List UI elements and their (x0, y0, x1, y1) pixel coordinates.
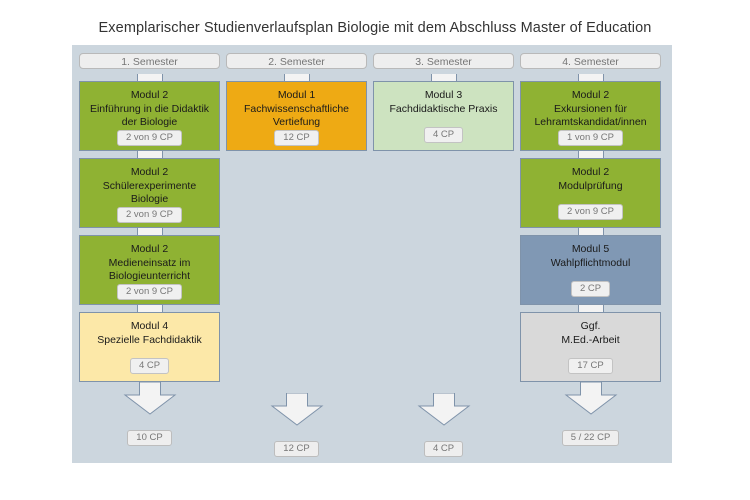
connector-stub (431, 74, 457, 81)
module-line: Modul 2 (525, 166, 656, 180)
cp-badge: 2 von 9 CP (117, 130, 182, 146)
module-line: Biologie (84, 193, 215, 207)
module-box-modul-2-schuelerexperimente[interactable]: Modul 2 Schülerexperimente Biologie 2 vo… (79, 158, 220, 228)
down-arrow-icon (417, 393, 471, 427)
module-line: der Biologie (84, 116, 215, 130)
flow-arrow-area-2 (226, 393, 367, 441)
module-title: Modul 4 Spezielle Fachdidaktik (84, 320, 215, 347)
column-spacer (373, 151, 514, 393)
connector-stub (137, 228, 163, 235)
cp-badge-wrap: 2 von 9 CP (84, 130, 215, 147)
cp-badge: 2 von 9 CP (117, 207, 182, 223)
module-title: Modul 2 Exkursionen für Lehramtskandidat… (525, 89, 656, 130)
semester-columns: 1. Semester Modul 2 Einführung in die Di… (72, 45, 672, 463)
module-title: Modul 2 Schülerexperimente Biologie (84, 166, 215, 207)
semester-total-4: 5 / 22 CP (562, 430, 620, 446)
semester-total-wrap-1: 10 CP (79, 430, 220, 452)
semester-total-3: 4 CP (424, 441, 463, 457)
semester-column-4: 4. Semester Modul 2 Exkursionen für Lehr… (520, 53, 661, 463)
cp-badge: 1 von 9 CP (558, 130, 623, 146)
semester-header-3[interactable]: 3. Semester (373, 53, 514, 69)
connector-stub (284, 74, 310, 81)
column-spacer (226, 151, 367, 393)
cp-badge: 2 von 9 CP (558, 204, 623, 220)
plan-panel: 1. Semester Modul 2 Einführung in die Di… (72, 45, 672, 463)
semester-column-3: 3. Semester Modul 3 Fachdidaktische Prax… (373, 53, 514, 463)
cp-badge-wrap: 2 von 9 CP (84, 284, 215, 301)
study-plan-page: Exemplarischer Studienverlaufsplan Biolo… (0, 0, 750, 500)
module-box-modul-3-fachdidaktische-praxis[interactable]: Modul 3 Fachdidaktische Praxis 4 CP (373, 81, 514, 151)
module-box-ggf-med-arbeit[interactable]: Ggf. M.Ed.-Arbeit 17 CP (520, 312, 661, 382)
module-line: Modul 2 (84, 89, 215, 103)
module-line: Exkursionen für (525, 103, 656, 117)
module-box-modul-2-modulpruefung[interactable]: Modul 2 Modulprüfung 2 von 9 CP (520, 158, 661, 228)
connector-stub (137, 151, 163, 158)
module-box-modul-1-fachwissenschaftliche-vertiefung[interactable]: Modul 1 Fachwissenschaftliche Vertiefung… (226, 81, 367, 151)
module-box-modul-2-exkursionen[interactable]: Modul 2 Exkursionen für Lehramtskandidat… (520, 81, 661, 151)
cp-badge: 4 CP (424, 127, 463, 143)
module-line: Modul 5 (525, 243, 656, 257)
cp-badge: 17 CP (568, 358, 612, 374)
semester-total-2: 12 CP (274, 441, 318, 457)
module-title: Modul 2 Einführung in die Didaktik der B… (84, 89, 215, 130)
cp-badge-wrap: 12 CP (231, 130, 362, 147)
connector-stub (578, 305, 604, 312)
module-line: Modul 4 (84, 320, 215, 334)
module-title: Modul 2 Medieneinsatz im Biologieunterri… (84, 243, 215, 284)
module-title: Modul 3 Fachdidaktische Praxis (378, 89, 509, 116)
cp-badge-wrap: 2 CP (525, 281, 656, 298)
cp-badge-wrap: 17 CP (525, 358, 656, 375)
module-box-modul-4-spezielle-fachdidaktik[interactable]: Modul 4 Spezielle Fachdidaktik 4 CP (79, 312, 220, 382)
module-line: Medieneinsatz im (84, 257, 215, 271)
connector-stub (578, 151, 604, 158)
module-line: Ggf. (525, 320, 656, 334)
semester-header-2[interactable]: 2. Semester (226, 53, 367, 69)
module-title: Modul 2 Modulprüfung (525, 166, 656, 193)
semester-column-1: 1. Semester Modul 2 Einführung in die Di… (79, 53, 220, 463)
module-line: Biologieunterricht (84, 270, 215, 284)
module-box-modul-2-einfuehrung-didaktik[interactable]: Modul 2 Einführung in die Didaktik der B… (79, 81, 220, 151)
module-line: Wahlpflichtmodul (525, 257, 656, 271)
flow-arrow-area-3 (373, 393, 514, 441)
module-line: Fachdidaktische Praxis (378, 103, 509, 117)
flow-arrow-area-1 (79, 382, 220, 430)
cp-badge-wrap: 4 CP (378, 127, 509, 144)
module-title: Modul 5 Wahlpflichtmodul (525, 243, 656, 270)
down-arrow-icon (270, 393, 324, 427)
cp-badge: 2 CP (571, 281, 610, 297)
connector-stub (137, 305, 163, 312)
semester-total-wrap-2: 12 CP (226, 441, 367, 463)
connector-stub (578, 74, 604, 81)
module-box-modul-5-wahlpflichtmodul[interactable]: Modul 5 Wahlpflichtmodul 2 CP (520, 235, 661, 305)
module-line: Lehramtskandidat/innen (525, 116, 656, 130)
semester-header-4[interactable]: 4. Semester (520, 53, 661, 69)
cp-badge-wrap: 4 CP (84, 358, 215, 375)
semester-header-1[interactable]: 1. Semester (79, 53, 220, 69)
module-line: Spezielle Fachdidaktik (84, 334, 215, 348)
page-title: Exemplarischer Studienverlaufsplan Biolo… (0, 20, 750, 36)
module-line: Modul 2 (84, 243, 215, 257)
module-line: Modul 2 (525, 89, 656, 103)
connector-stub (137, 74, 163, 81)
module-box-modul-2-medieneinsatz[interactable]: Modul 2 Medieneinsatz im Biologieunterri… (79, 235, 220, 305)
module-title: Modul 1 Fachwissenschaftliche Vertiefung (231, 89, 362, 130)
down-arrow-icon (123, 382, 177, 416)
module-line: M.Ed.-Arbeit (525, 334, 656, 348)
cp-badge-wrap: 2 von 9 CP (84, 207, 215, 224)
module-line: Modul 3 (378, 89, 509, 103)
semester-column-2: 2. Semester Modul 1 Fachwissenschaftlich… (226, 53, 367, 463)
cp-badge: 12 CP (274, 130, 318, 146)
module-line: Fachwissenschaftliche (231, 103, 362, 117)
module-line: Modulprüfung (525, 180, 656, 194)
cp-badge-wrap: 1 von 9 CP (525, 130, 656, 147)
module-line: Vertiefung (231, 116, 362, 130)
semester-total-wrap-4: 5 / 22 CP (520, 430, 661, 452)
module-line: Einführung in die Didaktik (84, 103, 215, 117)
cp-badge-wrap: 2 von 9 CP (525, 204, 656, 221)
down-arrow-icon (564, 382, 618, 416)
module-title: Ggf. M.Ed.-Arbeit (525, 320, 656, 347)
cp-badge: 2 von 9 CP (117, 284, 182, 300)
semester-total-1: 10 CP (127, 430, 171, 446)
module-line: Schülerexperimente (84, 180, 215, 194)
semester-total-wrap-3: 4 CP (373, 441, 514, 463)
module-line: Modul 2 (84, 166, 215, 180)
connector-stub (578, 228, 604, 235)
flow-arrow-area-4 (520, 382, 661, 430)
module-line: Modul 1 (231, 89, 362, 103)
cp-badge: 4 CP (130, 358, 169, 374)
